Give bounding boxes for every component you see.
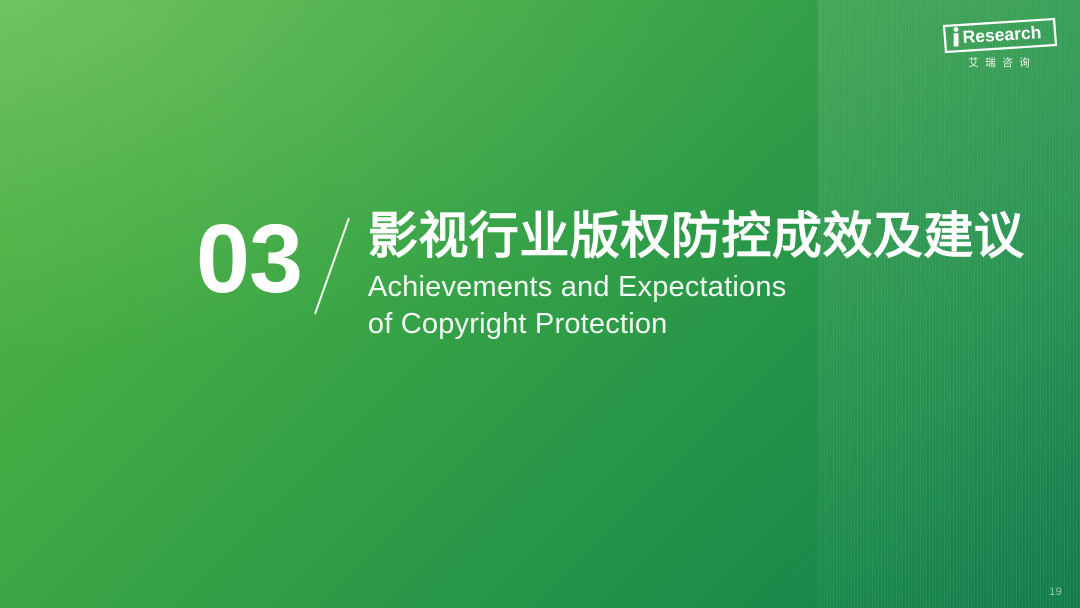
section-divider-slide: Research 艾瑞咨询 03 影视行业版权防控成效及建议 Achieveme…	[0, 0, 1080, 608]
slash-divider-icon	[302, 206, 368, 324]
section-title-chinese: 影视行业版权防控成效及建议	[368, 208, 1025, 265]
section-number: 03	[196, 206, 302, 305]
iresearch-logo: Research 艾瑞咨询	[940, 17, 1058, 70]
section-title-block: 03 影视行业版权防控成效及建议 Achievements and Expect…	[196, 206, 1024, 344]
title-text-group: 影视行业版权防控成效及建议 Achievements and Expectati…	[368, 206, 1025, 344]
iresearch-wordmark-icon: Research	[940, 17, 1058, 55]
section-title-english: Achievements and Expectations of Copyrig…	[368, 269, 1025, 344]
svg-text:Research: Research	[962, 22, 1042, 47]
iresearch-chinese-name: 艾瑞咨询	[940, 58, 1058, 70]
english-title-line-1: Achievements and Expectations	[368, 269, 1025, 307]
english-title-line-2: of Copyright Protection	[368, 306, 1025, 344]
page-number: 19	[1049, 586, 1062, 598]
